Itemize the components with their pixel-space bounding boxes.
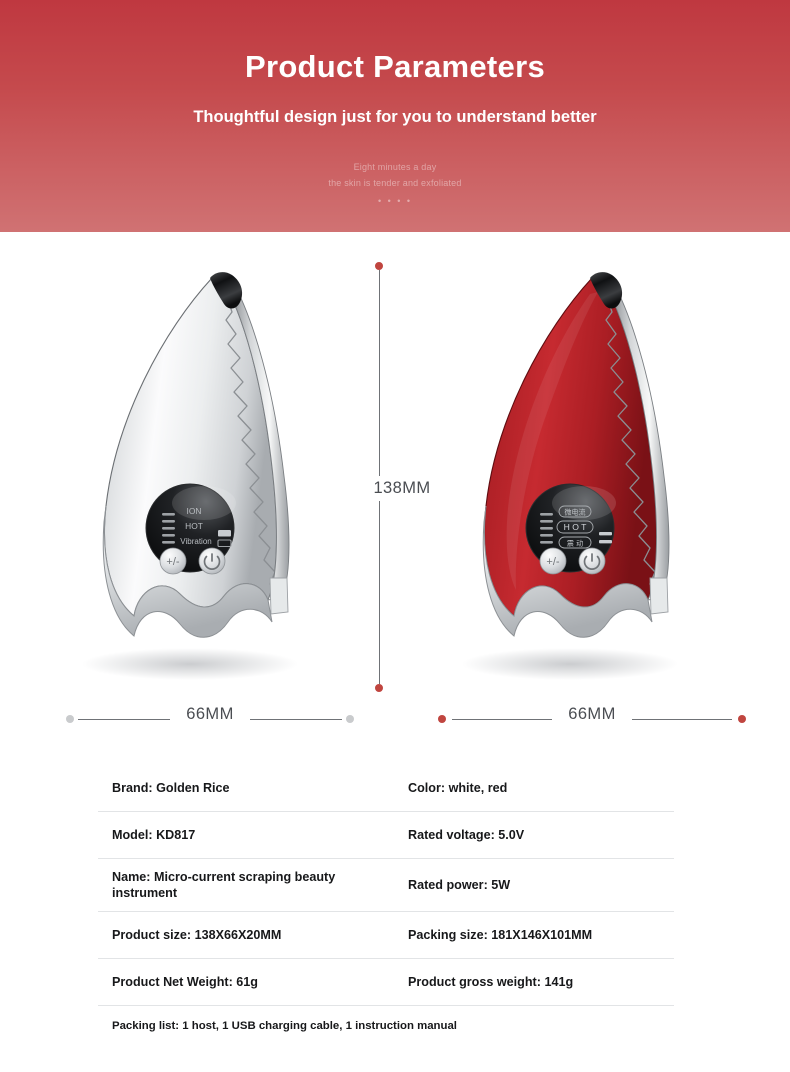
spec-packing-size: Packing size: 181X146X101MM xyxy=(398,919,674,951)
table-row: Brand: Golden Rice Color: white, red xyxy=(98,765,674,812)
width-left-dim-dot-start xyxy=(66,715,74,723)
white-panel-power-button xyxy=(199,548,225,574)
red-device-shadow xyxy=(462,648,678,680)
red-panel-label-hot: H O T xyxy=(564,522,588,532)
spec-name: Name: Micro-current scraping beauty inst… xyxy=(98,861,398,909)
width-right-dim-dot-start xyxy=(438,715,446,723)
svg-text:+/-: +/- xyxy=(166,556,179,568)
svg-text:+/-: +/- xyxy=(546,556,559,568)
white-panel-mode-button: +/- xyxy=(160,548,186,574)
packing-list-note: Packing list: 1 host, 1 USB charging cab… xyxy=(98,1006,674,1032)
banner-dot-separator: • • • • xyxy=(0,196,790,206)
red-panel-label-ion: 微电流 xyxy=(565,508,586,517)
width-dimension-line-right: 66MM xyxy=(438,714,746,724)
banner-tagline-line-2: the skin is tender and exfoliated xyxy=(0,176,790,190)
page-title: Product Parameters xyxy=(0,47,790,87)
white-panel-label-ion: ION xyxy=(187,506,202,516)
table-row: Product size: 138X66X20MM Packing size: … xyxy=(98,912,674,959)
width-dimension-label-right: 66MM xyxy=(552,705,632,724)
spec-rated-power: Rated power: 5W xyxy=(398,869,674,901)
table-row: Product Net Weight: 61g Product gross we… xyxy=(98,959,674,1006)
red-device-base-tab xyxy=(650,578,668,614)
height-dim-dot-top xyxy=(375,262,383,270)
spec-net-weight: Product Net Weight: 61g xyxy=(98,966,398,998)
page-subtitle: Thoughtful design just for you to unders… xyxy=(0,105,790,129)
white-device-base-tab xyxy=(270,578,288,614)
white-panel-label-hot: HOT xyxy=(185,521,203,531)
red-device-image: 微电流 H O T 震 动 +/- xyxy=(452,260,702,680)
white-device-shadow xyxy=(82,648,298,680)
height-dim-dot-bottom xyxy=(375,684,383,692)
spec-gross-weight: Product gross weight: 141g xyxy=(398,966,674,998)
width-dimension-label-left: 66MM xyxy=(170,705,250,724)
width-left-dim-dot-end xyxy=(346,715,354,723)
specification-table: Brand: Golden Rice Color: white, red Mod… xyxy=(98,765,674,1032)
spec-brand: Brand: Golden Rice xyxy=(98,772,398,804)
header-banner: Product Parameters Thoughtful design jus… xyxy=(0,0,790,232)
banner-tagline-line-1: Eight minutes a day xyxy=(0,160,790,174)
table-row: Name: Micro-current scraping beauty inst… xyxy=(98,859,674,912)
spec-rated-voltage: Rated voltage: 5.0V xyxy=(398,819,674,851)
width-dimension-line-left: 66MM xyxy=(66,714,354,724)
white-panel-label-vibration: Vibration xyxy=(180,537,211,546)
spec-color: Color: white, red xyxy=(398,772,674,804)
red-panel-power-button xyxy=(579,548,605,574)
red-panel-mode-button: +/- xyxy=(540,548,566,574)
table-row: Model: KD817 Rated voltage: 5.0V xyxy=(98,812,674,859)
spec-product-size: Product size: 138X66X20MM xyxy=(98,919,398,951)
height-dimension-label: 138MM xyxy=(342,476,462,501)
spec-model: Model: KD817 xyxy=(98,819,398,851)
width-right-dim-dot-end xyxy=(738,715,746,723)
red-panel-label-vibration: 震 动 xyxy=(567,539,583,548)
white-device-image: ION HOT Vibration +/- xyxy=(72,260,322,680)
